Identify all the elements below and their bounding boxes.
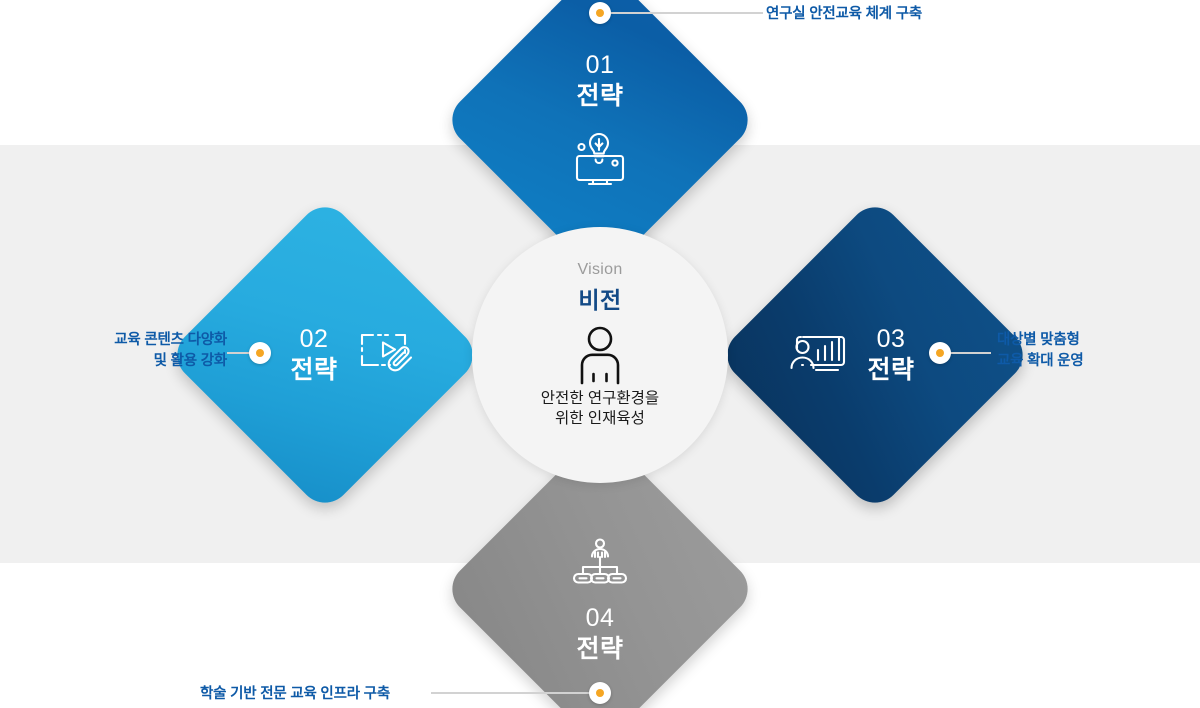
org-chart-icon: [569, 537, 631, 589]
strategy-diamond-03[interactable]: 03 전략: [717, 197, 1034, 514]
video-attachment-icon: [352, 326, 416, 384]
connector-line-04: [431, 692, 591, 694]
monitor-lightbulb-icon: [569, 130, 631, 188]
strategy-03-outer-label: 대상별 맞춤형 교육 확대 운영: [997, 330, 1147, 372]
strategy-04-text: 04 전략: [576, 603, 623, 665]
connector-dot-02[interactable]: [249, 342, 271, 364]
strategy-01-number: 01: [576, 50, 623, 81]
connector-line-03: [949, 352, 991, 354]
vision-circle: Vision 비전 안전한 연구환경을 위한 인재육성: [472, 227, 728, 483]
vision-description-line2: 위한 인재육성: [541, 409, 659, 429]
connector-line-01: [611, 12, 763, 14]
vision-label-ko: 비전: [578, 281, 621, 315]
connector-dot-01[interactable]: [589, 2, 611, 24]
strategy-03-outer-label-line2: 교육 확대 운영: [997, 351, 1147, 372]
strategy-03-number: 03: [867, 324, 914, 355]
person-icon: [572, 323, 628, 385]
diagram-canvas: 01 전략 02 전략: [0, 0, 1200, 708]
strategy-04-number: 04: [576, 603, 623, 634]
strategy-03-word: 전략: [867, 355, 914, 386]
vision-description-line1: 안전한 연구환경을: [541, 389, 659, 409]
strategy-02-number: 02: [290, 324, 337, 355]
strategy-02-outer-label: 교육 콘텐츠 다양화 및 활용 강화: [84, 330, 227, 372]
strategy-04-outer-label: 학술 기반 전문 교육 인프라 구축: [200, 684, 390, 705]
vision-label-en: Vision: [577, 261, 622, 279]
strategy-01-text: 01 전략: [576, 50, 623, 112]
strategy-03-outer-label-line1: 대상별 맞춤형: [997, 330, 1147, 351]
strategy-01-word: 전략: [576, 81, 623, 112]
strategy-02-outer-label-line2: 및 활용 강화: [84, 351, 227, 372]
strategy-01-outer-label: 연구실 안전교육 체계 구축: [766, 4, 922, 25]
strategy-02-outer-label-line1: 교육 콘텐츠 다양화: [84, 330, 227, 351]
connector-dot-04[interactable]: [589, 682, 611, 704]
strategy-04-word: 전략: [576, 634, 623, 665]
person-chart-board-icon: [787, 327, 851, 383]
strategy-03-text: 03 전략: [867, 324, 914, 386]
strategy-02-word: 전략: [290, 355, 337, 386]
strategy-02-text: 02 전략: [290, 324, 337, 386]
vision-description: 안전한 연구환경을 위한 인재육성: [541, 389, 659, 430]
connector-dot-03[interactable]: [929, 342, 951, 364]
